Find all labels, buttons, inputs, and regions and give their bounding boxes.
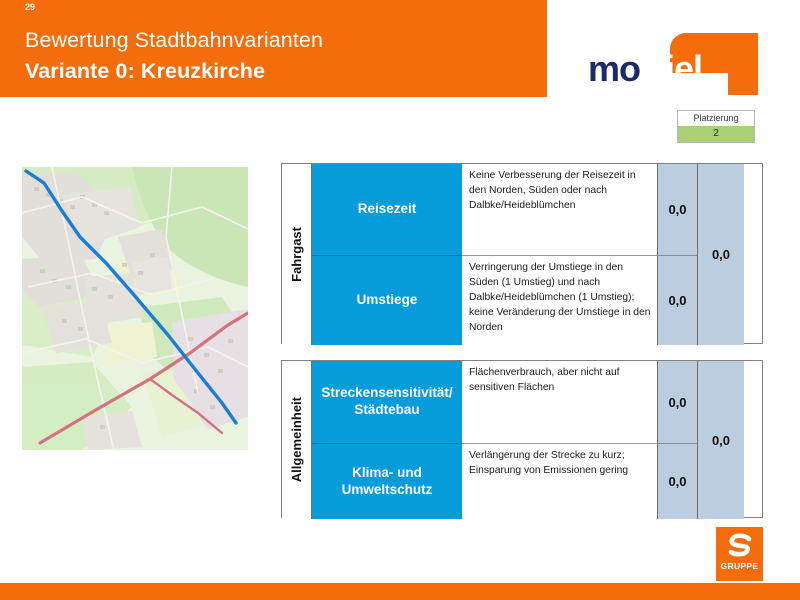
page-title-secondary: Variante 0: Kreuzkirche: [25, 59, 265, 84]
total-score-cell: 0,0: [698, 164, 744, 345]
score-cell: 0,0: [658, 361, 698, 444]
criterion-cell: Klima- und Umweltschutz: [312, 444, 462, 519]
mobiel-logo-text: moBiel: [588, 51, 702, 87]
description-cell: Verringerung der Umstiege in den Süden (…: [462, 256, 658, 345]
gruppe-logo-label: GRUPPE: [716, 561, 763, 571]
total-score-cell: 0,0: [698, 361, 744, 519]
s-mark-icon: [716, 529, 763, 562]
category-label: Fahrgast: [289, 227, 304, 282]
description-cell: Verlängerung der Strecke zu kurz; Einspa…: [462, 444, 658, 519]
ranking-badge-label: Platzierung: [678, 111, 754, 126]
mobiel-logo-mo: mo: [588, 48, 640, 89]
score-cell: 0,0: [658, 444, 698, 519]
ranking-badge: Platzierung 2: [677, 110, 755, 143]
slide: Bewertung Stadtbahnvarianten Variante 0:…: [0, 0, 800, 600]
criterion-cell: Reisezeit: [312, 164, 462, 256]
category-cell: Allgemeinheit: [282, 361, 312, 519]
gruppe-logo: GRUPPE: [716, 527, 763, 581]
page-title-primary: Bewertung Stadtbahnvarianten: [25, 28, 323, 53]
score-cell: 0,0: [658, 256, 698, 345]
footer-bar: [0, 583, 800, 600]
description-cell: Keine Verbesserung der Reisezeit in den …: [462, 164, 658, 256]
category-label: Allgemeinheit: [289, 397, 304, 482]
criterion-cell: Umstiege: [312, 256, 462, 345]
ranking-badge-value: 2: [678, 126, 754, 142]
score-cell: 0,0: [658, 164, 698, 256]
route-map-image: [22, 167, 248, 450]
mobiel-logo-biel: Biel: [640, 48, 702, 89]
mobiel-logo: moBiel: [588, 33, 773, 101]
description-cell: Flächenverbrauch, aber nicht auf sensiti…: [462, 361, 658, 444]
evaluation-table-allgemeinheit: Allgemeinheit Streckensensitivität/ Städ…: [281, 360, 763, 518]
page-number: 29: [25, 2, 35, 12]
footer-date: 16.12.2020: [620, 2, 665, 12]
evaluation-table-fahrgast: Fahrgast Reisezeit Keine Verbesserung de…: [281, 163, 763, 344]
criterion-cell: Streckensensitivität/ Städtebau: [312, 361, 462, 444]
category-cell: Fahrgast: [282, 164, 312, 345]
